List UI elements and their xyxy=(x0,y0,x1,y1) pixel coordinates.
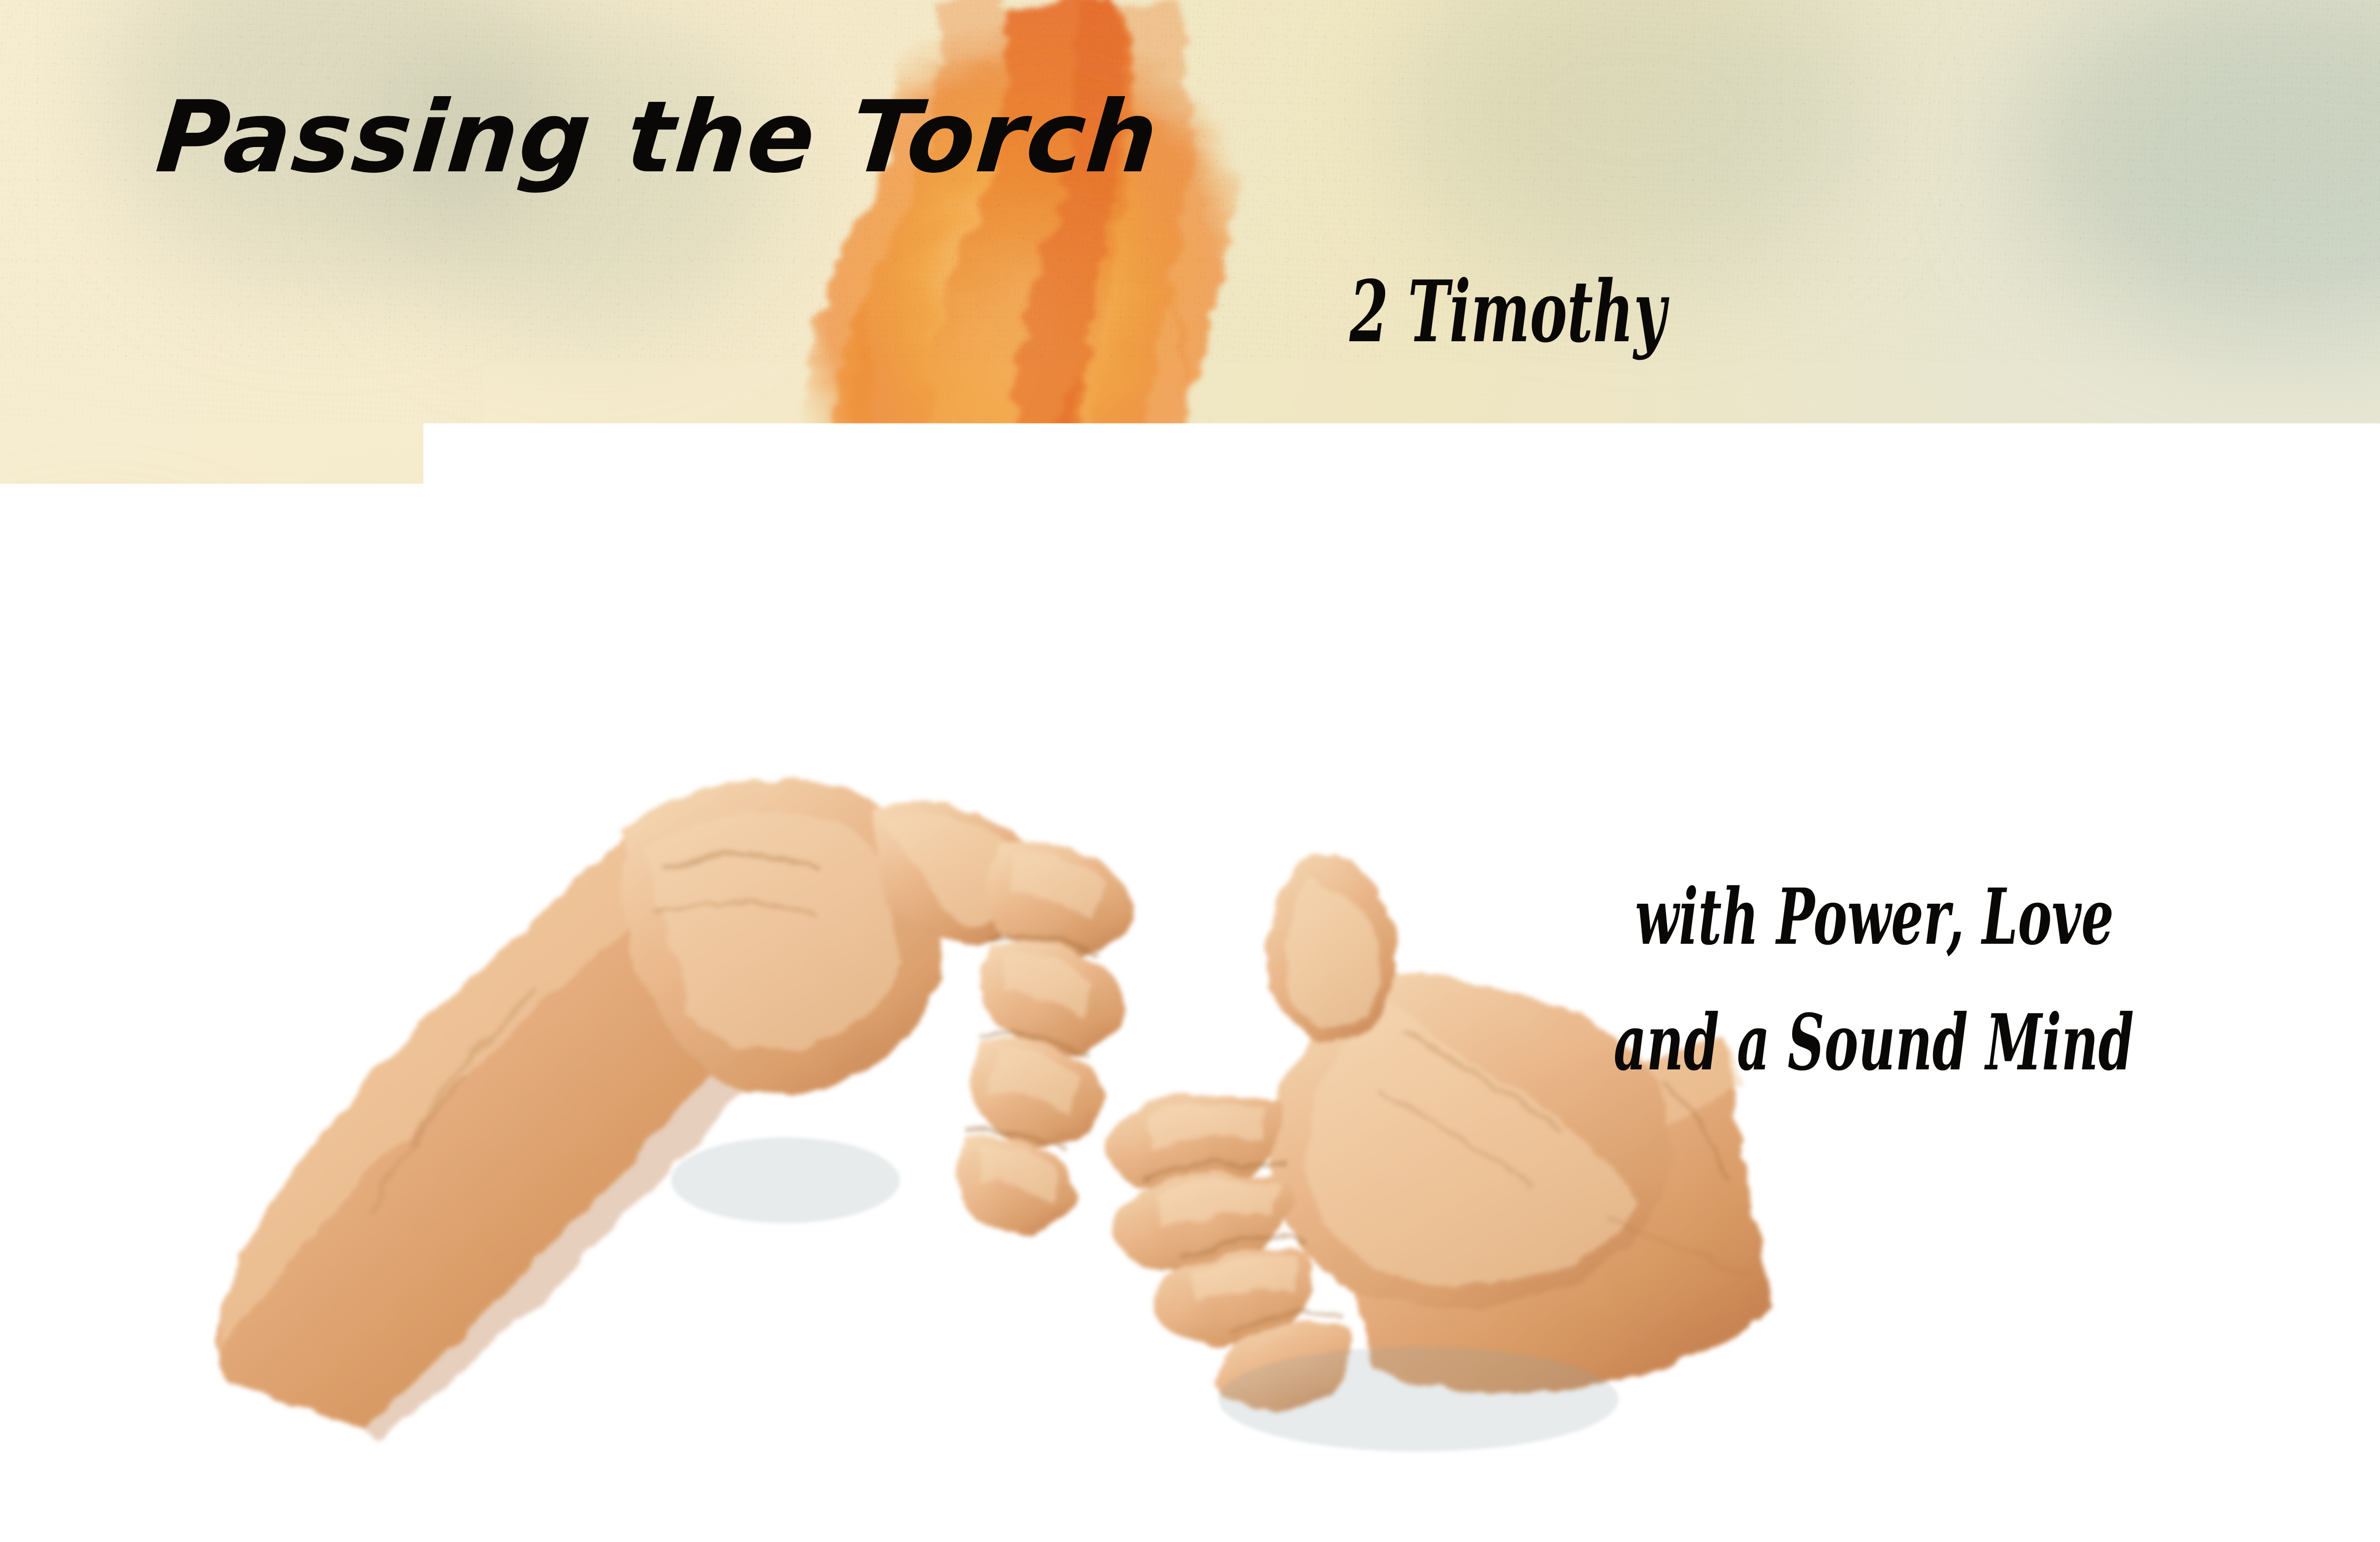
paper-fiber-overlay xyxy=(0,0,2380,1542)
sermon-graphic: Passing the Torch 2 Timothy Fall Sermon … xyxy=(0,0,2380,1542)
